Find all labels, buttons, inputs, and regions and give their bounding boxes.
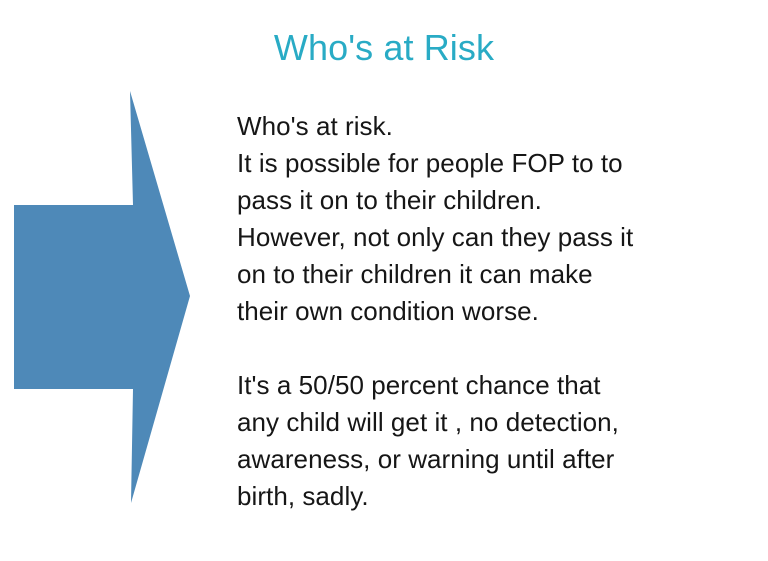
- body-text-block: Who's at risk. It is possible for people…: [237, 108, 697, 515]
- right-arrow-shape: [14, 91, 190, 503]
- right-arrow-graphic: [0, 80, 210, 520]
- body-paragraph-1: Who's at risk. It is possible for people…: [237, 108, 697, 330]
- page-title: Who's at Risk: [0, 26, 768, 70]
- slide-canvas: Who's at Risk Who's at risk. It is possi…: [0, 0, 768, 561]
- right-arrow-icon: [0, 80, 210, 520]
- body-paragraph-2: It's a 50/50 percent chance that any chi…: [237, 367, 697, 515]
- paragraph-spacer: [237, 330, 697, 367]
